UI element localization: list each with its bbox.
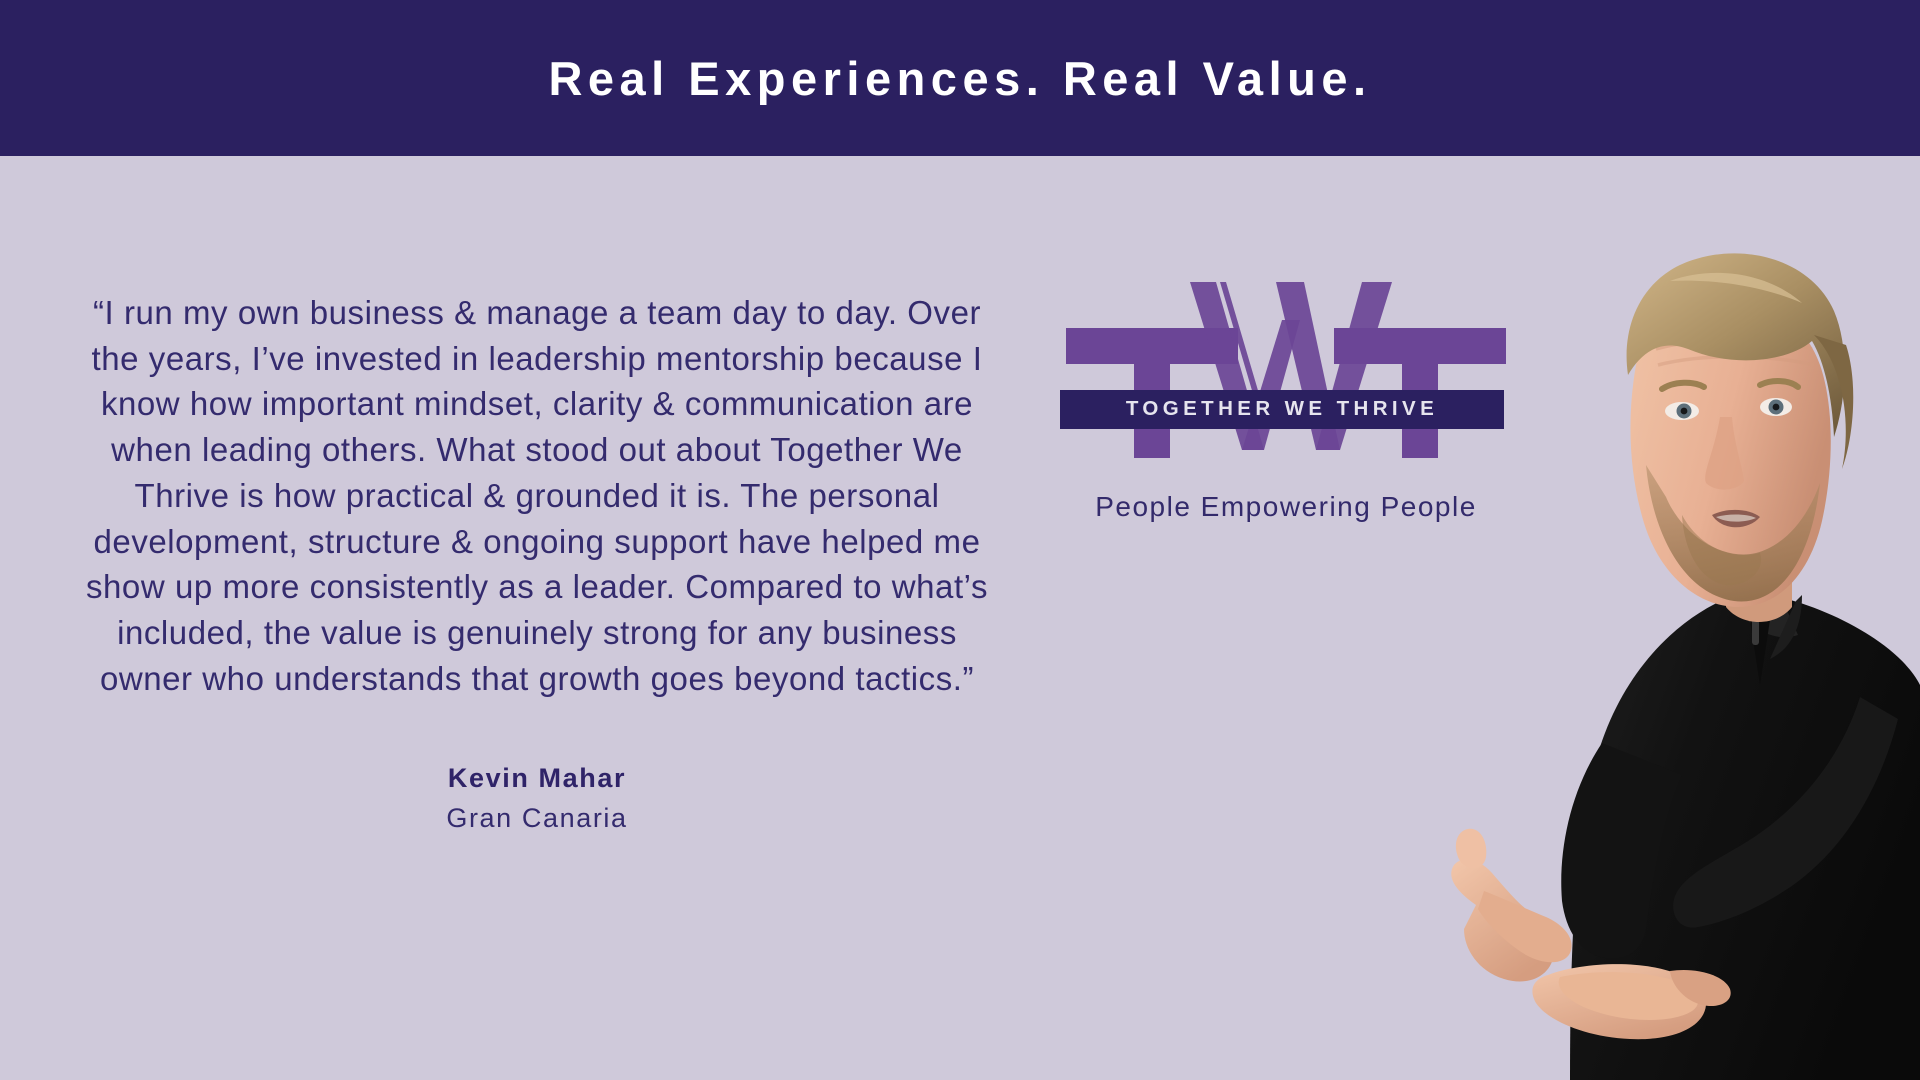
testimonial-attribution: Kevin Mahar Gran Canaria xyxy=(72,761,1002,835)
eye-left-pupil xyxy=(1681,408,1688,415)
testimonial-quote: “I run my own business & manage a team d… xyxy=(72,290,1002,701)
speaker-photo xyxy=(1430,215,1920,1080)
testimonial-block: “I run my own business & manage a team d… xyxy=(72,290,1002,835)
page-title: Real Experiences. Real Value. xyxy=(548,55,1371,102)
author-name: Kevin Mahar xyxy=(72,761,1002,796)
logo-letter-w-icon xyxy=(1164,282,1414,457)
logo-name-text: TOGETHER WE THRIVE xyxy=(1126,399,1438,420)
author-location: Gran Canaria xyxy=(72,801,1002,836)
testimonial-slide: Real Experiences. Real Value. “I run my … xyxy=(0,0,1920,1080)
header-band: Real Experiences. Real Value. xyxy=(0,0,1920,156)
eye-right-pupil xyxy=(1773,404,1780,411)
